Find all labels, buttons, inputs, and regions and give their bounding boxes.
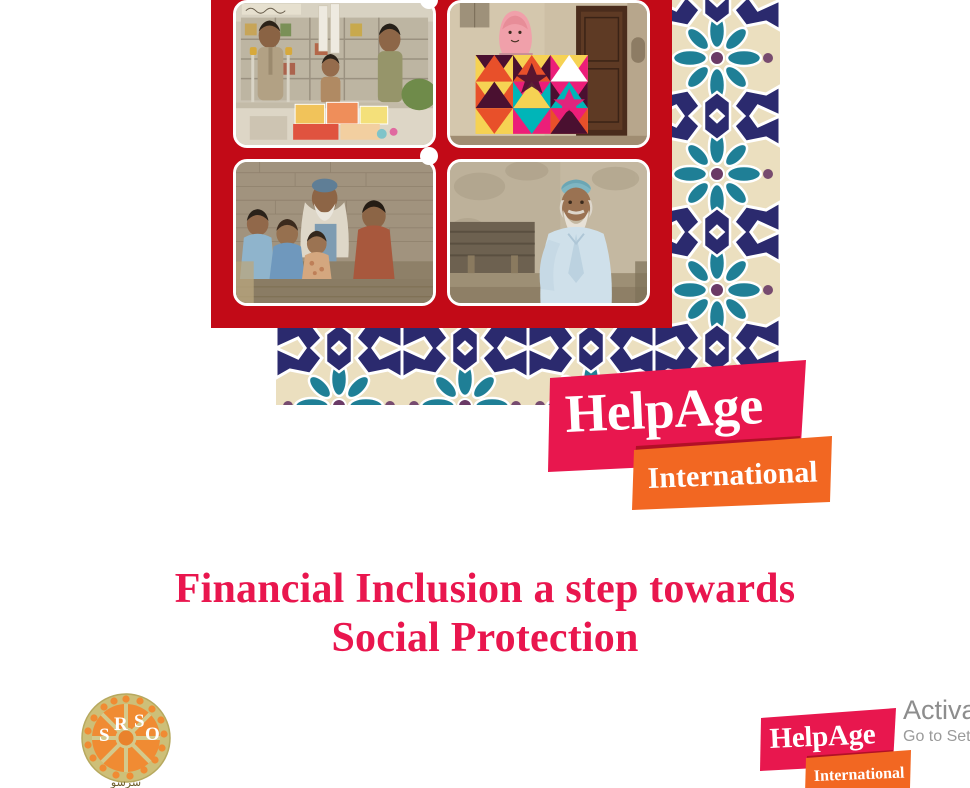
helpage-wordmark: HelpAge [564, 375, 764, 444]
collage-photo-top-left [233, 0, 436, 148]
photo-collage [211, 0, 672, 328]
helpage-international-wordmark: International [647, 455, 818, 495]
title-line-1: Financial Inclusion a step towards [0, 565, 970, 614]
srso-letter-s2: S [134, 711, 145, 732]
activation-title: Activate Windows [903, 694, 970, 726]
collage-photo-bottom-left [233, 159, 436, 307]
helpage-footer-wordmark: HelpAge [769, 718, 877, 755]
helpage-international-logo: HelpAge International [548, 360, 834, 512]
title-line-2: Social Protection [0, 614, 970, 663]
srso-letter-s1: S [99, 725, 110, 746]
presentation-slide: HelpAge International Financial Inclusio… [0, 0, 970, 788]
srso-urdu-script: سرسو [110, 776, 141, 788]
windows-activation-watermark: Activate Windows Go to Settings to activ… [903, 694, 970, 748]
srso-letter-o: O [145, 724, 160, 745]
collage-grid [233, 0, 650, 306]
helpage-footer-international-wordmark: International [814, 765, 906, 785]
srso-letter-r: R [114, 714, 128, 735]
activation-subtitle: Go to Settings to activate Windows. [903, 726, 970, 748]
srso-logo: S R S O سرسو [74, 692, 178, 788]
collage-photo-top-right [447, 0, 650, 148]
slide-title: Financial Inclusion a step towards Socia… [0, 565, 970, 663]
collage-photo-bottom-right [447, 159, 650, 307]
helpage-international-logo-footer: HelpAge International [760, 708, 912, 788]
